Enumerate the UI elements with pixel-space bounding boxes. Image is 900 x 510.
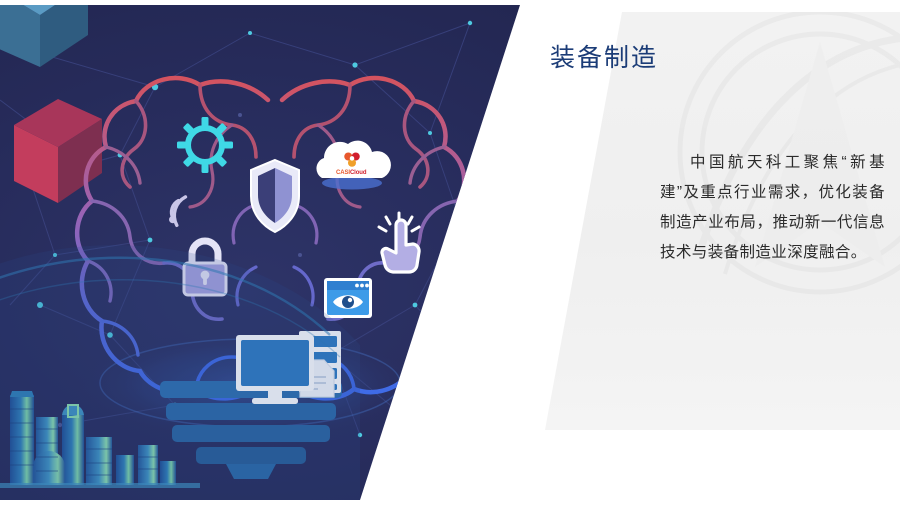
nature-scene xyxy=(0,5,585,500)
green-trees xyxy=(444,461,540,481)
cloud-logo-casi: CASI xyxy=(336,170,350,176)
slide-root: 装备制造 中国航天科工聚焦“新基建”及重点行业需求，优化装备制造产业布局，推动新… xyxy=(0,0,900,510)
grass-strip xyxy=(410,477,585,486)
illustration-panel xyxy=(0,5,585,500)
page-body-text: 中国航天科工聚焦“新基建”及重点行业需求，优化装备制造产业布局，推动新一代信息技… xyxy=(660,148,885,268)
cloud-logo-wordmark: CASICloud xyxy=(336,170,366,176)
soil-strip xyxy=(410,486,585,500)
orange-building xyxy=(466,439,504,479)
page-title: 装备制造 xyxy=(550,38,658,74)
cloud-logo-cloud: Cloud xyxy=(350,170,367,176)
